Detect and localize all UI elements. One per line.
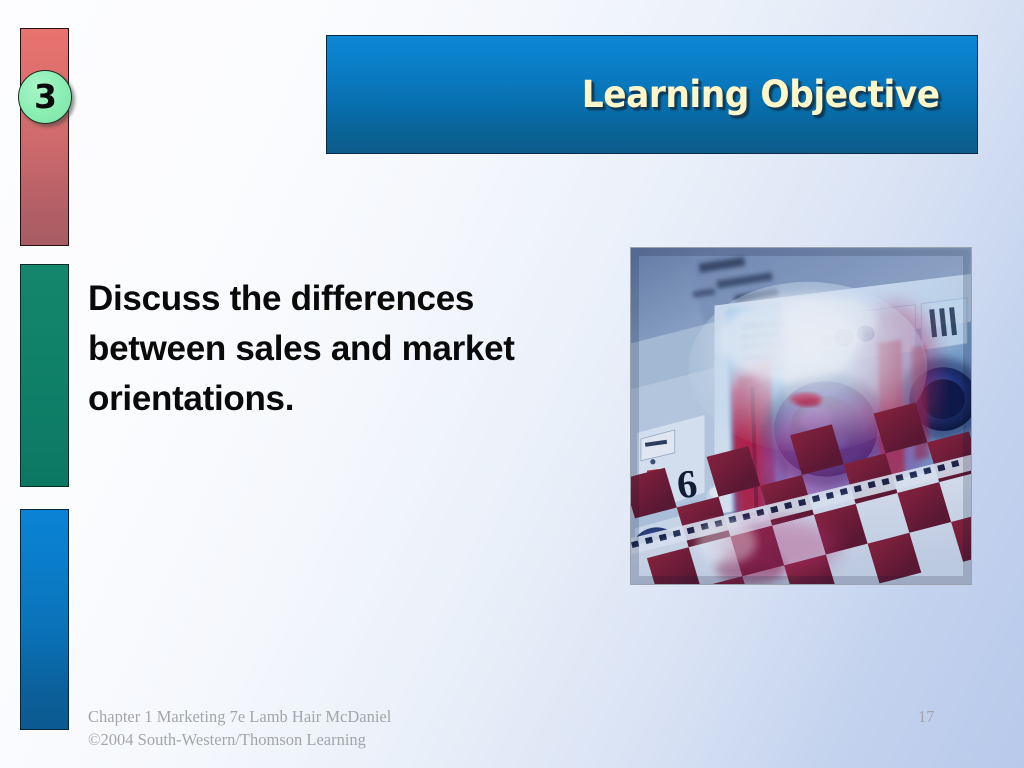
page-title: Learning Objective — [582, 76, 977, 113]
laundromat-photo: 6 — [630, 247, 972, 585]
sidebar-bar-red — [20, 28, 69, 246]
objective-number-label: 3 — [34, 80, 56, 113]
footer-credit: Chapter 1 Marketing 7e Lamb Hair McDanie… — [88, 705, 391, 751]
slide-canvas: 3 Learning Objective Discuss the differe… — [0, 0, 1024, 768]
objective-number-badge: 3 — [18, 70, 72, 124]
laundromat-photo-image: 6 — [631, 248, 971, 584]
objective-body-text: Discuss the differences between sales an… — [88, 274, 588, 424]
title-banner: Learning Objective — [326, 35, 978, 154]
footer-line-2: ©2004 South-Western/Thomson Learning — [88, 728, 391, 751]
sidebar-bar-blue — [20, 509, 69, 730]
footer-line-1: Chapter 1 Marketing 7e Lamb Hair McDanie… — [88, 705, 391, 728]
sidebar-bar-teal — [20, 264, 69, 487]
page-number: 17 — [918, 705, 935, 728]
